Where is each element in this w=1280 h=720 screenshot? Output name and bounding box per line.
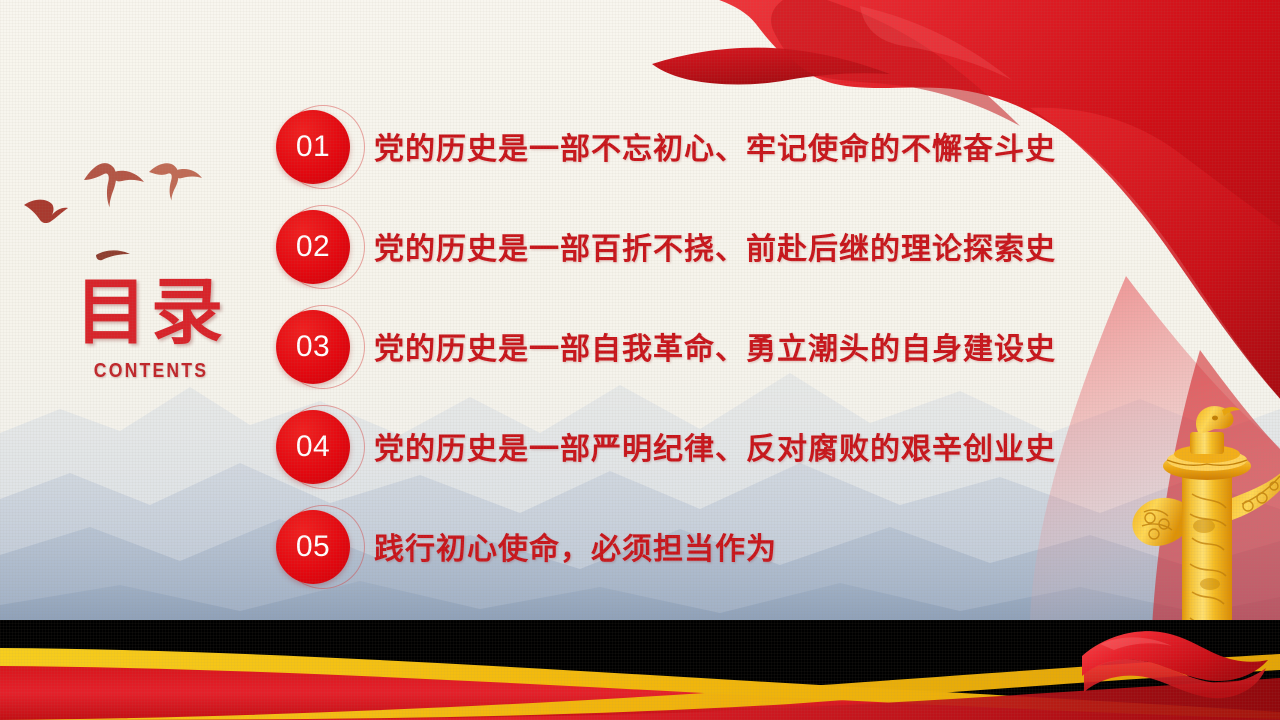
badge-number: 02 xyxy=(296,232,330,262)
slide-canvas: 目录 CONTENTS 01 党的历史是一部不忘初心、牢记使命的不懈奋斗史 02… xyxy=(0,0,1280,720)
badge-circle: 02 xyxy=(276,210,350,284)
page-subtitle: CONTENTS xyxy=(59,360,244,383)
list-item-label: 党的历史是一部严明纪律、反对腐败的艰辛创业史 xyxy=(374,431,1056,469)
contents-list: 01 党的历史是一部不忘初心、牢记使命的不懈奋斗史 02 党的历史是一部百折不挠… xyxy=(276,100,1136,600)
list-item[interactable]: 04 党的历史是一部严明纪律、反对腐败的艰辛创业史 xyxy=(276,400,1136,500)
contents-title-block: 目录 CONTENTS xyxy=(46,272,256,383)
item-number-badge[interactable]: 02 xyxy=(276,204,368,296)
badge-circle: 01 xyxy=(276,110,350,184)
list-item-label: 党的历史是一部自我革命、勇立潮头的自身建设史 xyxy=(374,331,1056,369)
list-item-label: 党的历史是一部不忘初心、牢记使命的不懈奋斗史 xyxy=(374,131,1056,169)
list-item[interactable]: 02 党的历史是一部百折不挠、前赴后继的理论探索史 xyxy=(276,200,1136,300)
badge-number: 04 xyxy=(296,432,330,462)
badge-circle: 05 xyxy=(276,510,350,584)
list-item[interactable]: 03 党的历史是一部自我革命、勇立潮头的自身建设史 xyxy=(276,300,1136,400)
list-item[interactable]: 01 党的历史是一部不忘初心、牢记使命的不懈奋斗史 xyxy=(276,100,1136,200)
flying-birds-icon xyxy=(14,150,224,275)
badge-number: 01 xyxy=(296,132,330,162)
badge-number: 05 xyxy=(296,532,330,562)
item-number-badge[interactable]: 04 xyxy=(276,404,368,496)
list-item[interactable]: 05 践行初心使命，必须担当作为 xyxy=(276,500,1136,600)
item-number-badge[interactable]: 03 xyxy=(276,304,368,396)
item-number-badge[interactable]: 05 xyxy=(276,504,368,596)
page-title: 目录 xyxy=(46,272,256,352)
badge-circle: 03 xyxy=(276,310,350,384)
red-ribbon-wrap xyxy=(1080,580,1280,710)
badge-circle: 04 xyxy=(276,410,350,484)
list-item-label: 践行初心使命，必须担当作为 xyxy=(374,531,777,569)
item-number-badge[interactable]: 01 xyxy=(276,104,368,196)
list-item-label: 党的历史是一部百折不挠、前赴后继的理论探索史 xyxy=(374,231,1056,269)
badge-number: 03 xyxy=(296,332,330,362)
